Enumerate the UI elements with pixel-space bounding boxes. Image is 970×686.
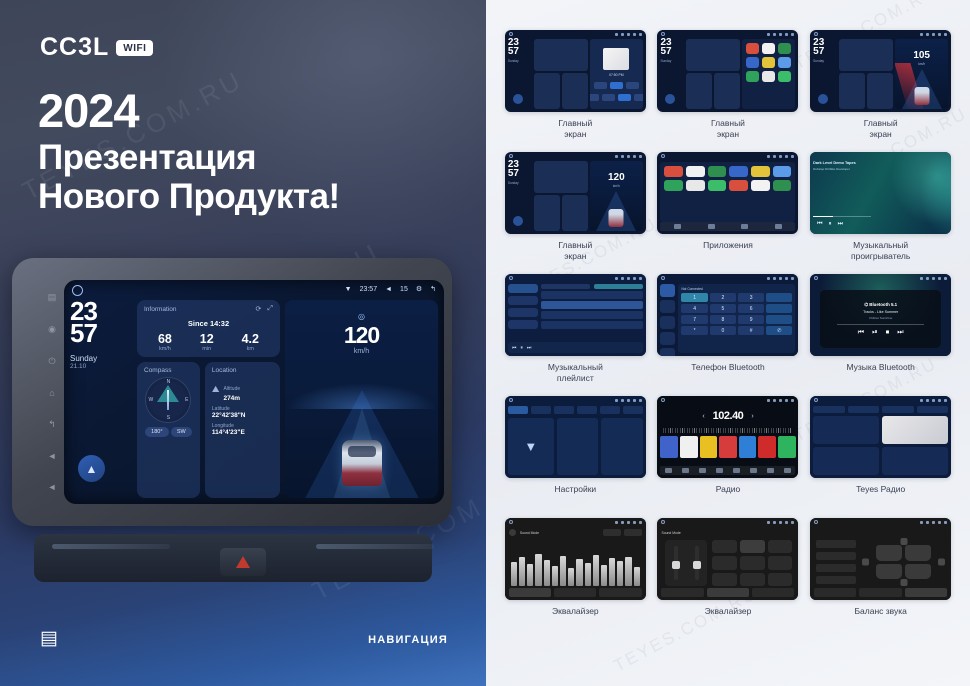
- dashboard-illustration: ▤ ◉ ⏻ ⌂ ↰ ◄ ◄ ▼ 23:57 ◄ 15 ⚙: [0, 258, 486, 578]
- thumbnail-caption: Главныйэкран: [558, 118, 592, 140]
- thumbnail-caption: Главныйэкран: [864, 118, 898, 140]
- prev-station-button: ‹: [702, 413, 704, 420]
- eq-band-slider: [617, 561, 623, 586]
- progress-bar: [813, 216, 871, 217]
- app-icon: [773, 180, 792, 191]
- playlist-tracks[interactable]: [541, 284, 643, 342]
- thumb-home-drive[interactable]: 2357Sunday120km/h: [505, 152, 646, 234]
- volume-icon: [627, 521, 630, 524]
- mini-location-card: [562, 195, 588, 231]
- gallery-cell: Teyes Радио: [807, 396, 954, 516]
- power-icon[interactable]: ⏻: [48, 356, 55, 367]
- drive-view[interactable]: ◎ 120 km/h: [285, 300, 438, 498]
- trip-since: Since 14:32: [144, 319, 273, 328]
- app-icon: [751, 180, 770, 191]
- shuffle-button: [590, 94, 599, 101]
- eq-preset-button: [603, 529, 621, 536]
- mini-media-player[interactable]: 07:50 PM: [590, 39, 643, 109]
- mountain-icon: ⛰: [212, 384, 220, 395]
- thumb-teyes-radio[interactable]: [810, 396, 951, 478]
- teyes-radio-tab: [813, 406, 845, 413]
- player-controls: [882, 447, 948, 475]
- prev-button: ⏮: [512, 345, 517, 351]
- mini-widgets: [534, 39, 588, 109]
- clock-icon: [926, 521, 929, 524]
- dial-key: 9: [738, 315, 764, 324]
- headline-line2: Нового Продукта!: [38, 177, 340, 216]
- settings-tab: [554, 406, 574, 414]
- mini-location-card: [867, 73, 893, 109]
- app-icon: [686, 180, 705, 191]
- mini-compass-card: [686, 73, 712, 109]
- thumb-bluetooth-music[interactable]: ⌬ Bluetooth 5.1Tracks - Like SummerChill…: [810, 274, 951, 356]
- thumbnail-caption: Телефон Bluetooth: [691, 362, 765, 384]
- eq-band-slider: [634, 567, 640, 586]
- mini-widgets: [839, 39, 893, 109]
- home-icon[interactable]: [72, 285, 83, 296]
- mini-clock: 2357Sunday: [508, 39, 532, 109]
- clock-icon: [773, 521, 776, 524]
- status-icons: [920, 399, 947, 402]
- status-icons: [767, 521, 794, 524]
- stat-unit: km/h: [158, 346, 172, 352]
- clock-minutes: 57: [70, 322, 132, 344]
- back-icon[interactable]: ↰: [48, 419, 56, 430]
- stop-button: ⏹: [886, 329, 890, 337]
- balance-down-button: [900, 579, 907, 586]
- thumb-status-bar: [657, 396, 798, 404]
- status-icons: [615, 399, 642, 402]
- thumb-status-bar: [810, 518, 951, 526]
- track-artist: Dubstep Dirtbike Developer: [813, 167, 875, 171]
- dialer-keypad[interactable]: Not Connected123456789*0#✆: [678, 284, 795, 353]
- stat-value: 4.2: [242, 332, 259, 346]
- gallery-cell: ▼Настройки: [502, 396, 649, 516]
- status-icons: [920, 521, 947, 524]
- bt-track-title: Tracks - Like Summer: [863, 310, 898, 314]
- headline-year: 2024: [38, 85, 340, 138]
- equalizer-header: Sound Mode: [661, 528, 794, 537]
- gallery-cell: Sound ModeЭквалайзер: [655, 518, 802, 638]
- gallery-cell: 2357Sunday07:50 PMГлавныйэкран: [502, 30, 649, 150]
- equalizer-footer[interactable]: [509, 588, 642, 597]
- brand-wifi-badge: WIFI: [116, 40, 153, 56]
- mini-compass-card: [534, 195, 560, 231]
- stat-value: 68: [158, 332, 172, 346]
- prev-button: ⏮: [858, 329, 864, 337]
- app-drawer[interactable]: [660, 162, 795, 222]
- thumb-status-bar: [657, 30, 798, 38]
- eq-fader-pair[interactable]: [665, 540, 707, 586]
- dial-key: *: [681, 326, 707, 335]
- footer-left: ▤: [40, 629, 58, 648]
- dialer-tab: [660, 300, 675, 313]
- right-gallery-panel: TEYES.COM.RU TEYES.COM.RU TEYES.COM.RU T…: [486, 0, 970, 686]
- head-unit-screen[interactable]: ▼ 23:57 ◄ 15 ⚙ ↰ 23 57 Sunday 21.10: [64, 280, 444, 504]
- vent-left: [52, 544, 170, 549]
- home-icon: [814, 520, 818, 524]
- settings-tab: [623, 406, 643, 414]
- track-title: Dark Level Demo Tapes: [813, 161, 875, 165]
- next-button: [626, 82, 639, 89]
- thumb-home-drive-red[interactable]: 2357Sunday105km/h: [810, 30, 951, 112]
- thumb-equalizer-presets[interactable]: Sound Mode: [657, 518, 798, 600]
- back-icon[interactable]: ↰: [430, 285, 436, 293]
- home-icon[interactable]: ⌂: [49, 388, 54, 398]
- volume-icon: [779, 33, 782, 36]
- speed-value: 105: [913, 50, 930, 61]
- thumbnail-caption: Баланс звука: [854, 606, 906, 628]
- compass-north-label: N: [167, 379, 171, 385]
- status-icons: [920, 33, 947, 36]
- gallery-cell: ⏮⏸⏭Музыкальныйплейлист: [502, 274, 649, 394]
- radio-toolbar[interactable]: [660, 466, 795, 475]
- gear-icon: [785, 521, 788, 524]
- thumb-sound-balance[interactable]: [810, 518, 951, 600]
- widgets-column: Information ⟳ ⤢ Since 14:32 68: [137, 300, 280, 498]
- volume-icon[interactable]: ◄: [385, 286, 392, 293]
- clock-widget[interactable]: 23 57 Sunday 21.10 ▲: [70, 300, 132, 498]
- dial-key: 2: [710, 293, 736, 302]
- radio-preset: [778, 436, 796, 458]
- volume-icon: [779, 155, 782, 158]
- mini-information-card: [534, 161, 588, 193]
- vent-right: [316, 544, 434, 549]
- back-icon: [639, 399, 642, 402]
- dialer-tab: [660, 316, 675, 329]
- playlist-tab: [594, 284, 643, 289]
- teyes-radio-tab: [882, 406, 914, 413]
- clock-icon: [926, 33, 929, 36]
- app-icon: [708, 166, 727, 177]
- back-icon: [791, 155, 794, 158]
- app-icon: [762, 57, 775, 68]
- home-icon: [509, 398, 513, 402]
- balance-left-button: [862, 559, 869, 566]
- eq-mode-label: Sound Mode: [520, 531, 539, 535]
- radio-tool-icon: [733, 468, 740, 473]
- gallery-cell: 2357Sunday105km/hГлавныйэкран: [807, 30, 954, 150]
- app-icon: [664, 166, 683, 177]
- gallery-cell: Sound ModeЭквалайзер: [502, 518, 649, 638]
- seat-fl: [876, 545, 902, 561]
- mini-drive-view[interactable]: 105km/h: [895, 39, 948, 109]
- hazard-button[interactable]: [220, 548, 266, 576]
- volume-icon: [779, 277, 782, 280]
- status-bar: ▼ 23:57 ◄ 15 ⚙ ↰: [345, 285, 436, 293]
- clock-icon: [621, 521, 624, 524]
- radio-tuner[interactable]: ‹102.40›: [660, 406, 795, 426]
- radio-tool-icon: [682, 468, 689, 473]
- eq-band-slider: [519, 557, 525, 586]
- status-icons: [767, 277, 794, 280]
- playlist-track: [541, 321, 643, 329]
- dial-key: 1: [681, 293, 707, 302]
- back-icon: [944, 33, 947, 36]
- altitude-row: ⛰ Altitude 274m: [212, 377, 273, 402]
- balance-footer[interactable]: [814, 588, 947, 597]
- settings-cards[interactable]: [557, 418, 643, 475]
- refresh-icon[interactable]: ⟳: [256, 305, 262, 313]
- radio-preset: [700, 436, 718, 458]
- status-icons: [615, 155, 642, 158]
- home-icon: [661, 276, 665, 280]
- information-title: Information: [144, 306, 177, 313]
- gear-icon: [633, 155, 636, 158]
- settings-card: [557, 418, 599, 475]
- presentation-page: TEYES.COM.RU TEYES.COM.RU TEYES.COM.RU C…: [0, 0, 970, 686]
- dial-key: 6: [738, 304, 764, 313]
- eq-preset-tile: [712, 573, 737, 586]
- information-card[interactable]: Information ⟳ ⤢ Since 14:32 68: [137, 300, 280, 357]
- headline-line1: Презентация: [38, 138, 340, 177]
- back-icon: [639, 155, 642, 158]
- eq-tab: [859, 588, 901, 597]
- status-icons: [767, 155, 794, 158]
- balance-preset: [816, 540, 856, 548]
- car-avatar: [914, 87, 929, 105]
- station-list: [813, 416, 879, 444]
- mini-app-grid[interactable]: [742, 39, 795, 109]
- thumb-radio[interactable]: ‹102.40›: [657, 396, 798, 478]
- volume-icon: [627, 399, 630, 402]
- dial-key: 5: [710, 304, 736, 313]
- wifi-icon: [615, 399, 618, 402]
- trip-stat: 12 min: [200, 332, 214, 352]
- status-icons: [615, 33, 642, 36]
- gallery-cell: Приложения: [655, 152, 802, 272]
- clock-icon: [773, 33, 776, 36]
- bluetooth-music-card[interactable]: ⌬ Bluetooth 5.1Tracks - Like SummerChill…: [820, 290, 941, 348]
- trip-stats: 68 km/h 12 min 4.2 km: [144, 332, 273, 352]
- settings-tabs[interactable]: [508, 406, 643, 414]
- settings-tab: [508, 406, 528, 414]
- home-icon: [661, 398, 665, 402]
- media-time: 07:50 PM: [609, 73, 624, 77]
- thumbnail-caption: Главныйэкран: [558, 240, 592, 262]
- play-button: ⏸: [520, 345, 523, 351]
- volume-icon: [932, 277, 935, 280]
- latitude-row: Latitude 22°42'38"N: [212, 406, 273, 419]
- back-icon: [944, 399, 947, 402]
- thumb-status-bar: [810, 274, 951, 282]
- mini-clock: 2357Sunday: [813, 39, 837, 109]
- mini-location-card: [714, 73, 740, 109]
- car-avatar: [342, 440, 382, 486]
- gallery-cell: Баланс звука: [807, 518, 954, 638]
- wifi-icon: [920, 399, 923, 402]
- eq-band-slider: [535, 554, 541, 586]
- eq-tab: [707, 588, 749, 597]
- volume-down-icon[interactable]: ◄: [48, 451, 57, 461]
- gallery-cell: ‹102.40›Радио: [655, 396, 802, 516]
- radio-tool-icon: [750, 468, 757, 473]
- eq-preset-tile: [740, 573, 765, 586]
- app-icon: [762, 43, 775, 54]
- thumbnail-caption: Музыкальныйплейлист: [548, 362, 603, 384]
- thumbnail-caption: Музыкальныйпроигрыватель: [851, 240, 910, 262]
- home-icon: [814, 398, 818, 402]
- playlist-track: [541, 301, 643, 309]
- eq-tab: [661, 588, 703, 597]
- teyes-radio-tabs[interactable]: [813, 406, 948, 413]
- information-actions[interactable]: ⟳ ⤢: [256, 305, 273, 313]
- gear-icon: [785, 277, 788, 280]
- gear-icon: [938, 33, 941, 36]
- home-icon: [814, 32, 818, 36]
- expand-icon[interactable]: ⤢: [267, 305, 273, 313]
- status-volume: 15: [400, 286, 408, 293]
- eq-fader: [674, 546, 678, 579]
- clock-icon: [621, 33, 624, 36]
- speed-value: 120: [608, 172, 625, 183]
- volume-icon: [627, 155, 630, 158]
- thumbnail-caption: Настройки: [554, 484, 596, 506]
- balance-presets[interactable]: [816, 540, 856, 586]
- home-screen-grid: 23 57 Sunday 21.10 ▲ Information: [70, 300, 438, 498]
- thumb-apps[interactable]: [657, 152, 798, 234]
- eq-reset-button: [624, 529, 642, 536]
- clock-icon: [926, 277, 929, 280]
- eq-preset-tile: [768, 556, 793, 569]
- gear-icon: [938, 521, 941, 524]
- gallery-cell: Not Connected123456789*0#✆Телефон Blueto…: [655, 274, 802, 394]
- compass-direction: SW: [171, 427, 192, 437]
- balance-pad[interactable]: [862, 538, 945, 586]
- gear-icon: [633, 277, 636, 280]
- seat-fr: [905, 545, 931, 561]
- teyes-radio-tab: [917, 406, 949, 413]
- eq-tab: [905, 588, 947, 597]
- playlist-category: [508, 308, 538, 317]
- radio-preset: [660, 436, 678, 458]
- app-icon: [746, 43, 759, 54]
- teyes-radio-content[interactable]: [813, 416, 948, 475]
- thumb-equalizer-sliders[interactable]: Sound Mode: [505, 518, 646, 600]
- navigation-icon: [513, 94, 523, 104]
- playlist-category: [508, 320, 538, 329]
- gear-icon: [938, 399, 941, 402]
- eq-mode-label: Sound Mode: [661, 531, 680, 535]
- eq-tab: [599, 588, 641, 597]
- app-icon: [664, 180, 683, 191]
- thumb-status-bar: [657, 518, 798, 526]
- playlist-now-playing[interactable]: ⏮⏸⏭: [508, 342, 643, 353]
- thumb-home-media[interactable]: 2357Sunday07:50 PM: [505, 30, 646, 112]
- thumbnail-caption: Приложения: [703, 240, 753, 262]
- gear-icon[interactable]: ⚙: [416, 285, 422, 293]
- back-icon: [791, 33, 794, 36]
- gear-icon: [785, 33, 788, 36]
- eq-band-slider: [601, 565, 607, 586]
- wifi-icon: [615, 33, 618, 36]
- location-card[interactable]: Location ⛰ Altitude 274m: [205, 362, 280, 498]
- navigation-icon[interactable]: ▲: [78, 455, 105, 482]
- play-button: ⏯: [872, 329, 878, 337]
- bluetooth-header: ⌬ Bluetooth 5.1: [864, 302, 897, 308]
- home-icon: [661, 154, 665, 158]
- eq-preset-tile: [712, 556, 737, 569]
- playlist-track: [541, 291, 643, 299]
- longitude-value: 114°4'23"E: [212, 429, 273, 436]
- wifi-icon: [920, 33, 923, 36]
- wifi-icon: ▼: [345, 286, 352, 293]
- gear-icon: [938, 277, 941, 280]
- thumb-status-bar: [657, 274, 798, 282]
- volume-icon: [779, 399, 782, 402]
- equalizer-bands[interactable]: [511, 540, 640, 586]
- thumb-home-apps[interactable]: 2357Sunday: [657, 30, 798, 112]
- mini-compass-card: [839, 73, 865, 109]
- eq-preset-grid[interactable]: [712, 540, 792, 586]
- radio-dial[interactable]: [663, 428, 792, 433]
- bt-track-artist: Chillout Sunshine: [869, 316, 892, 320]
- thumb-bluetooth-phone[interactable]: Not Connected123456789*0#✆: [657, 274, 798, 356]
- thumb-music-player[interactable]: Dark Level Demo TapesDubstep Dirtbike De…: [810, 152, 951, 234]
- compass-needle: [167, 390, 169, 410]
- mini-drive-view[interactable]: 120km/h: [590, 161, 643, 231]
- radio-preset: [739, 436, 757, 458]
- menu-icon[interactable]: ▤: [48, 292, 57, 303]
- app-dock: [660, 222, 795, 231]
- head-unit-side-rail[interactable]: ▤ ◉ ⏻ ⌂ ↰ ◄ ◄: [44, 292, 60, 492]
- thumb-status-bar: [505, 518, 646, 526]
- radio-tool-icon: [699, 468, 706, 473]
- status-icons: [615, 521, 642, 524]
- next-station-button: ›: [751, 413, 753, 420]
- mini-clock: 2357Sunday: [508, 161, 532, 231]
- compass-west-label: W: [148, 397, 153, 403]
- dial-key: 8: [710, 315, 736, 324]
- eq-band-slider: [560, 556, 566, 586]
- wifi-icon[interactable]: ▼: [508, 418, 554, 475]
- source-button: [618, 94, 631, 101]
- music-player-controls[interactable]: Dark Level Demo TapesDubstep Dirtbike De…: [813, 161, 875, 231]
- speed-unit: km/h: [613, 184, 620, 188]
- mini-clock: 2357Sunday: [660, 39, 684, 109]
- volume-up-icon[interactable]: ◄: [48, 482, 57, 492]
- thumb-music-playlist[interactable]: ⏮⏸⏭: [505, 274, 646, 356]
- altitude-value: 274m: [223, 395, 240, 402]
- thumb-settings[interactable]: ▼: [505, 396, 646, 478]
- home-icon: [661, 32, 665, 36]
- gallery-cell: ⌬ Bluetooth 5.1Tracks - Like SummerChill…: [807, 274, 954, 394]
- compass-south-label: S: [167, 415, 170, 421]
- mini-location-card: [562, 73, 588, 109]
- album-art: [603, 48, 629, 70]
- balance-up-button: [900, 538, 907, 545]
- balance-preset: [816, 576, 856, 584]
- settings-card: [601, 418, 643, 475]
- radio-presets[interactable]: [660, 436, 795, 458]
- equalizer-footer[interactable]: [661, 588, 794, 597]
- radio-icon[interactable]: ◉: [48, 324, 56, 335]
- dialer-tab: [660, 332, 675, 345]
- playlist-sidebar[interactable]: [508, 284, 538, 342]
- home-icon: [509, 276, 513, 280]
- thumbnail-caption: Эквалайзер: [552, 606, 599, 628]
- dialer-sidebar[interactable]: [660, 284, 675, 353]
- eq-band-slider: [568, 568, 574, 586]
- status-icons: [615, 277, 642, 280]
- playlist-category: [508, 284, 538, 293]
- radio-tool-icon: [767, 468, 774, 473]
- volume-icon: [932, 521, 935, 524]
- app-icon: [686, 166, 705, 177]
- compass-card[interactable]: Compass N S W E: [137, 362, 200, 498]
- trip-stat: 4.2 km: [242, 332, 259, 352]
- clock-icon: [773, 399, 776, 402]
